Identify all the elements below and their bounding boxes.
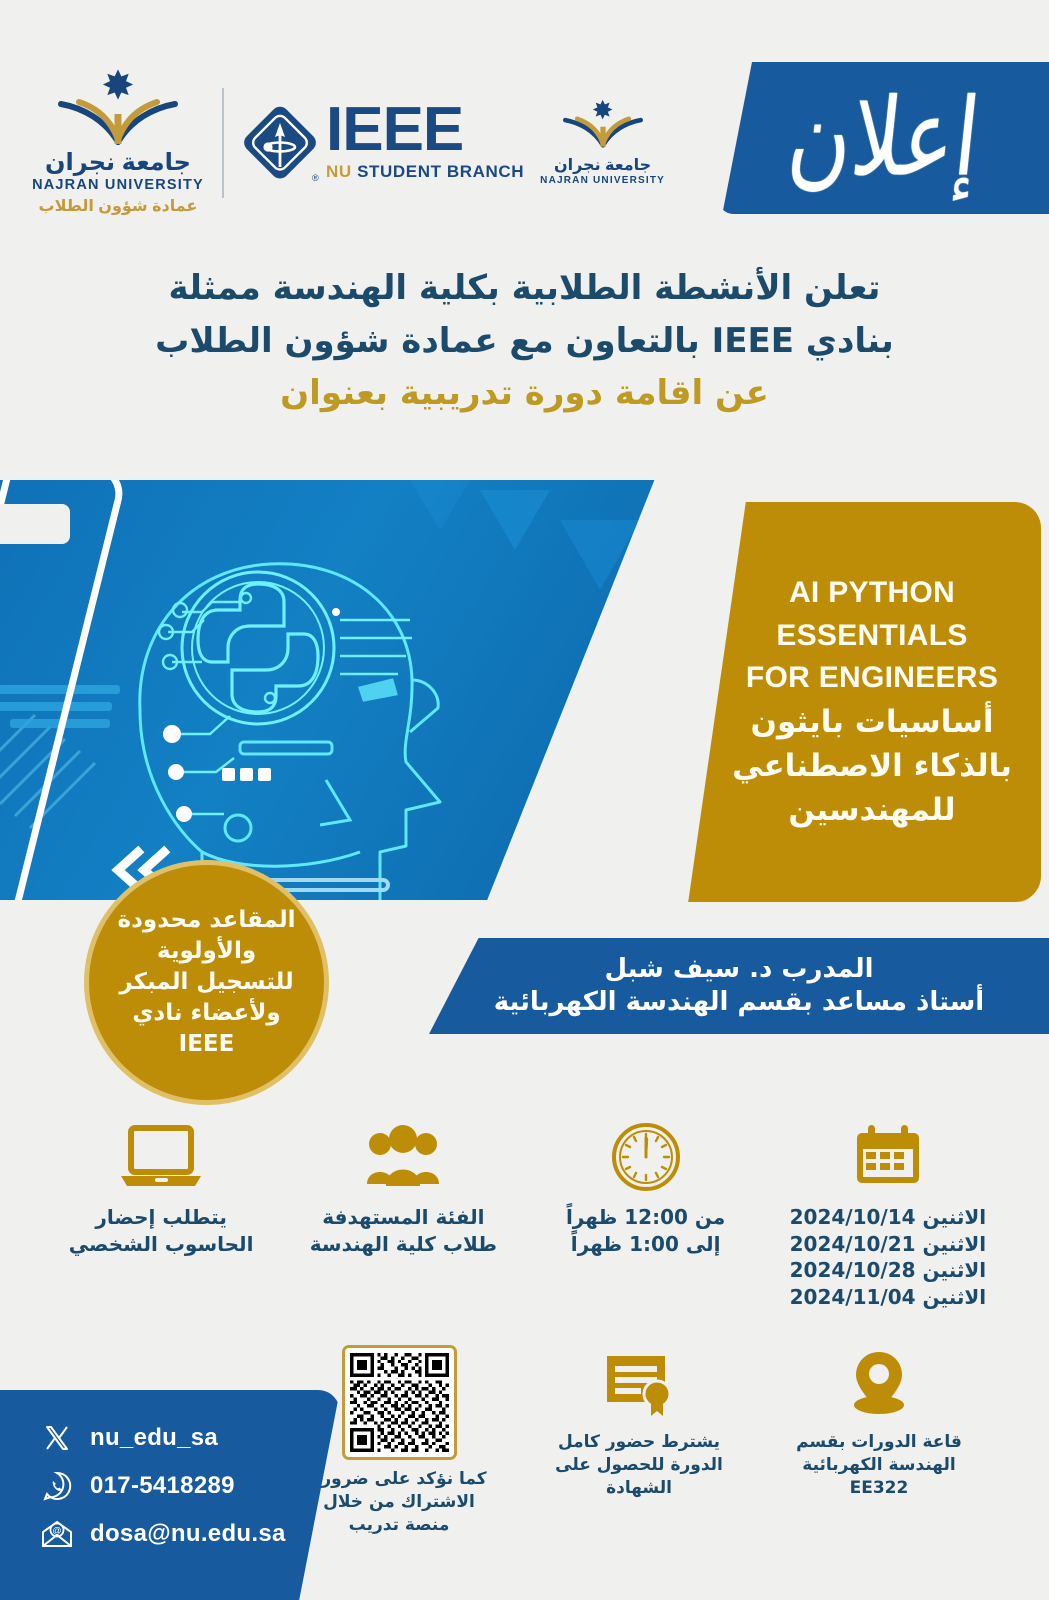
page-title: تعلن الأنشطة الطلابية بكلية الهندسة ممثل… — [0, 262, 1049, 420]
bottom-text-certificate: يشترط حضور كامل الدورة للحصول على الشهاد… — [555, 1431, 723, 1500]
laptop-line-2: الحاسوب الشخصي — [69, 1231, 254, 1258]
bottom-item-certificate: يشترط حضور كامل الدورة للحصول على الشهاد… — [539, 1345, 739, 1500]
info-grid: الاثنين 2024/10/14 الاثنين 2024/10/21 ال… — [0, 1118, 1049, 1310]
announcement-label: إعلان — [783, 76, 986, 201]
people-icon — [363, 1118, 443, 1196]
bottom-item-location: قاعة الدورات بقسم الهندسة الكهربائية EE3… — [779, 1345, 979, 1500]
university-name-arabic-small: جامعة نجران — [554, 155, 651, 175]
email-address: dosa@nu.edu.sa — [90, 1520, 286, 1548]
course-title-ar-3: للمهندسين — [721, 788, 1023, 832]
audience-line-1: الفئة المستهدفة — [310, 1204, 497, 1231]
info-text-dates: الاثنين 2024/10/14 الاثنين 2024/10/21 ال… — [790, 1204, 986, 1310]
seats-line-1: المقاعد محدودة — [118, 905, 296, 936]
bottom-text-location: قاعة الدورات بقسم الهندسة الكهربائية EE3… — [796, 1431, 962, 1500]
contact-whatsapp[interactable]: 017-5418289 — [40, 1469, 340, 1503]
book-emblem-icon-small — [560, 116, 646, 153]
twitter-handle: nu_edu_sa — [90, 1424, 218, 1452]
info-item-time: من 12:00 ظهراً إلى 1:00 ظهراً — [536, 1118, 756, 1257]
location-line-1: قاعة الدورات بقسم — [796, 1431, 962, 1454]
seats-line-2: والأولوية — [118, 936, 296, 967]
laptop-line-1: يتطلب إحضار — [69, 1204, 254, 1231]
info-text-time: من 12:00 ظهراً إلى 1:00 ظهراً — [566, 1204, 725, 1257]
logo-bar: ✸ جامعة نجران NAJRAN UNIVERSITY عمادة شؤ… — [0, 58, 700, 228]
limited-seats-text: المقاعد محدودة والأولوية للتسجيل المبكر … — [100, 905, 314, 1060]
qr-line-2: الاشتراك من خلال — [311, 1491, 486, 1514]
deanship-label: عمادة شؤون الطلاب — [39, 196, 198, 216]
certificate-line-1: يشترط حضور كامل — [555, 1431, 723, 1454]
certificate-icon — [599, 1345, 679, 1423]
poster-root: ✸ جامعة نجران NAJRAN UNIVERSITY عمادة شؤ… — [0, 0, 1049, 1600]
date-line-2: الاثنين 2024/10/21 — [790, 1231, 986, 1258]
limited-seats-badge: المقاعد محدودة والأولوية للتسجيل المبكر … — [84, 860, 329, 1105]
logo-divider — [222, 88, 224, 198]
instructor-banner: المدرب د. سيف شبل أستاذ مساعد بقسم الهند… — [429, 938, 1049, 1034]
contact-twitter[interactable]: nu_edu_sa — [40, 1421, 340, 1455]
course-title-box: AI PYTHON ESSENTIALS FOR ENGINEERS أساسي… — [681, 502, 1041, 902]
ieee-nu-label: NU — [326, 162, 352, 181]
location-line-2: الهندسة الكهربائية — [796, 1454, 962, 1477]
info-item-audience: الفئة المستهدفة طلاب كلية الهندسة — [293, 1118, 513, 1257]
course-title-en-2: ESSENTIALS — [721, 615, 1023, 658]
ieee-branch-label: NU STUDENT BRANCH — [326, 162, 524, 182]
ieee-wordmark: IEEE — [326, 104, 524, 157]
clock-icon — [608, 1118, 684, 1196]
qr-line-3: منصة تدريب — [311, 1514, 486, 1537]
seats-line-4: ولأعضاء نادي — [118, 998, 296, 1029]
book-emblem-icon — [53, 98, 183, 146]
ieee-logo: ® IEEE NU STUDENT BRANCH — [238, 101, 524, 185]
hero-section: AI PYTHON ESSENTIALS FOR ENGINEERS أساسي… — [0, 480, 1049, 910]
qr-code-icon[interactable] — [342, 1345, 457, 1460]
time-line-1: من 12:00 ظهراً — [566, 1204, 725, 1231]
laptop-icon — [117, 1118, 205, 1196]
svg-text:@: @ — [52, 1526, 61, 1536]
whatsapp-icon — [40, 1469, 74, 1503]
info-text-laptop: يتطلب إحضار الحاسوب الشخصي — [69, 1204, 254, 1257]
ieee-branch-text: STUDENT BRANCH — [357, 162, 524, 181]
contact-banner: nu_edu_sa 017-5418289 @ dosa@nu.edu.s — [0, 1390, 340, 1600]
whatsapp-number: 017-5418289 — [90, 1472, 235, 1500]
info-item-laptop: يتطلب إحضار الحاسوب الشخصي — [51, 1118, 271, 1257]
ieee-diamond-icon: ® — [238, 101, 322, 185]
course-title-ar-2: بالذكاء الاصطناعي — [721, 744, 1023, 788]
email-icon: @ — [40, 1517, 74, 1551]
certificate-line-2: الدورة للحصول على — [555, 1454, 723, 1477]
najran-university-logo-small: ✸ جامعة نجران NAJRAN UNIVERSITY — [540, 100, 665, 187]
location-pin-icon — [846, 1345, 912, 1423]
white-accent-notch — [0, 504, 70, 544]
qr-line-1: كما نؤكد على ضرورة — [311, 1468, 486, 1491]
location-line-3: EE322 — [796, 1477, 962, 1500]
heading-line-2: بنادي IEEE بالتعاون مع عمادة شؤون الطلاب — [0, 315, 1049, 368]
course-title-en-3: FOR ENGINEERS — [721, 657, 1023, 700]
university-name-english-small: NAJRAN UNIVERSITY — [540, 175, 665, 186]
info-item-dates: الاثنين 2024/10/14 الاثنين 2024/10/21 ال… — [778, 1118, 998, 1310]
contact-email[interactable]: @ dosa@nu.edu.sa — [40, 1517, 340, 1551]
announcement-banner: إعلان — [719, 62, 1049, 214]
svg-text:®: ® — [312, 173, 319, 183]
info-text-audience: الفئة المستهدفة طلاب كلية الهندسة — [310, 1204, 497, 1257]
date-line-1: الاثنين 2024/10/14 — [790, 1204, 986, 1231]
bottom-text-qr: كما نؤكد على ضرورة الاشتراك من خلال منصة… — [311, 1468, 486, 1537]
heading-line-1: تعلن الأنشطة الطلابية بكلية الهندسة ممثل… — [0, 262, 1049, 315]
seats-line-3: للتسجيل المبكر — [118, 967, 296, 998]
university-name-english: NAJRAN UNIVERSITY — [32, 177, 204, 193]
certificate-line-3: الشهادة — [555, 1477, 723, 1500]
heading-line-3: عن اقامة دورة تدريبية بعنوان — [0, 367, 1049, 420]
time-line-2: إلى 1:00 ظهراً — [566, 1231, 725, 1258]
course-title-ar-1: أساسيات بايثون — [721, 700, 1023, 744]
date-line-4: الاثنين 2024/11/04 — [790, 1284, 986, 1311]
date-line-3: الاثنين 2024/10/28 — [790, 1257, 986, 1284]
course-title-en-1: AI PYTHON — [721, 572, 1023, 615]
calendar-icon — [850, 1118, 926, 1196]
x-twitter-icon — [40, 1421, 74, 1455]
audience-line-2: طلاب كلية الهندسة — [310, 1231, 497, 1258]
instructor-name: المدرب د. سيف شبل — [604, 953, 873, 986]
university-name-arabic: جامعة نجران — [45, 148, 191, 177]
najran-university-logo: ✸ جامعة نجران NAJRAN UNIVERSITY عمادة شؤ… — [28, 70, 208, 216]
seats-line-5: IEEE — [118, 1029, 296, 1060]
ai-brain-graphic — [0, 480, 700, 900]
instructor-title: أستاذ مساعد بقسم الهندسة الكهربائية — [494, 986, 984, 1019]
